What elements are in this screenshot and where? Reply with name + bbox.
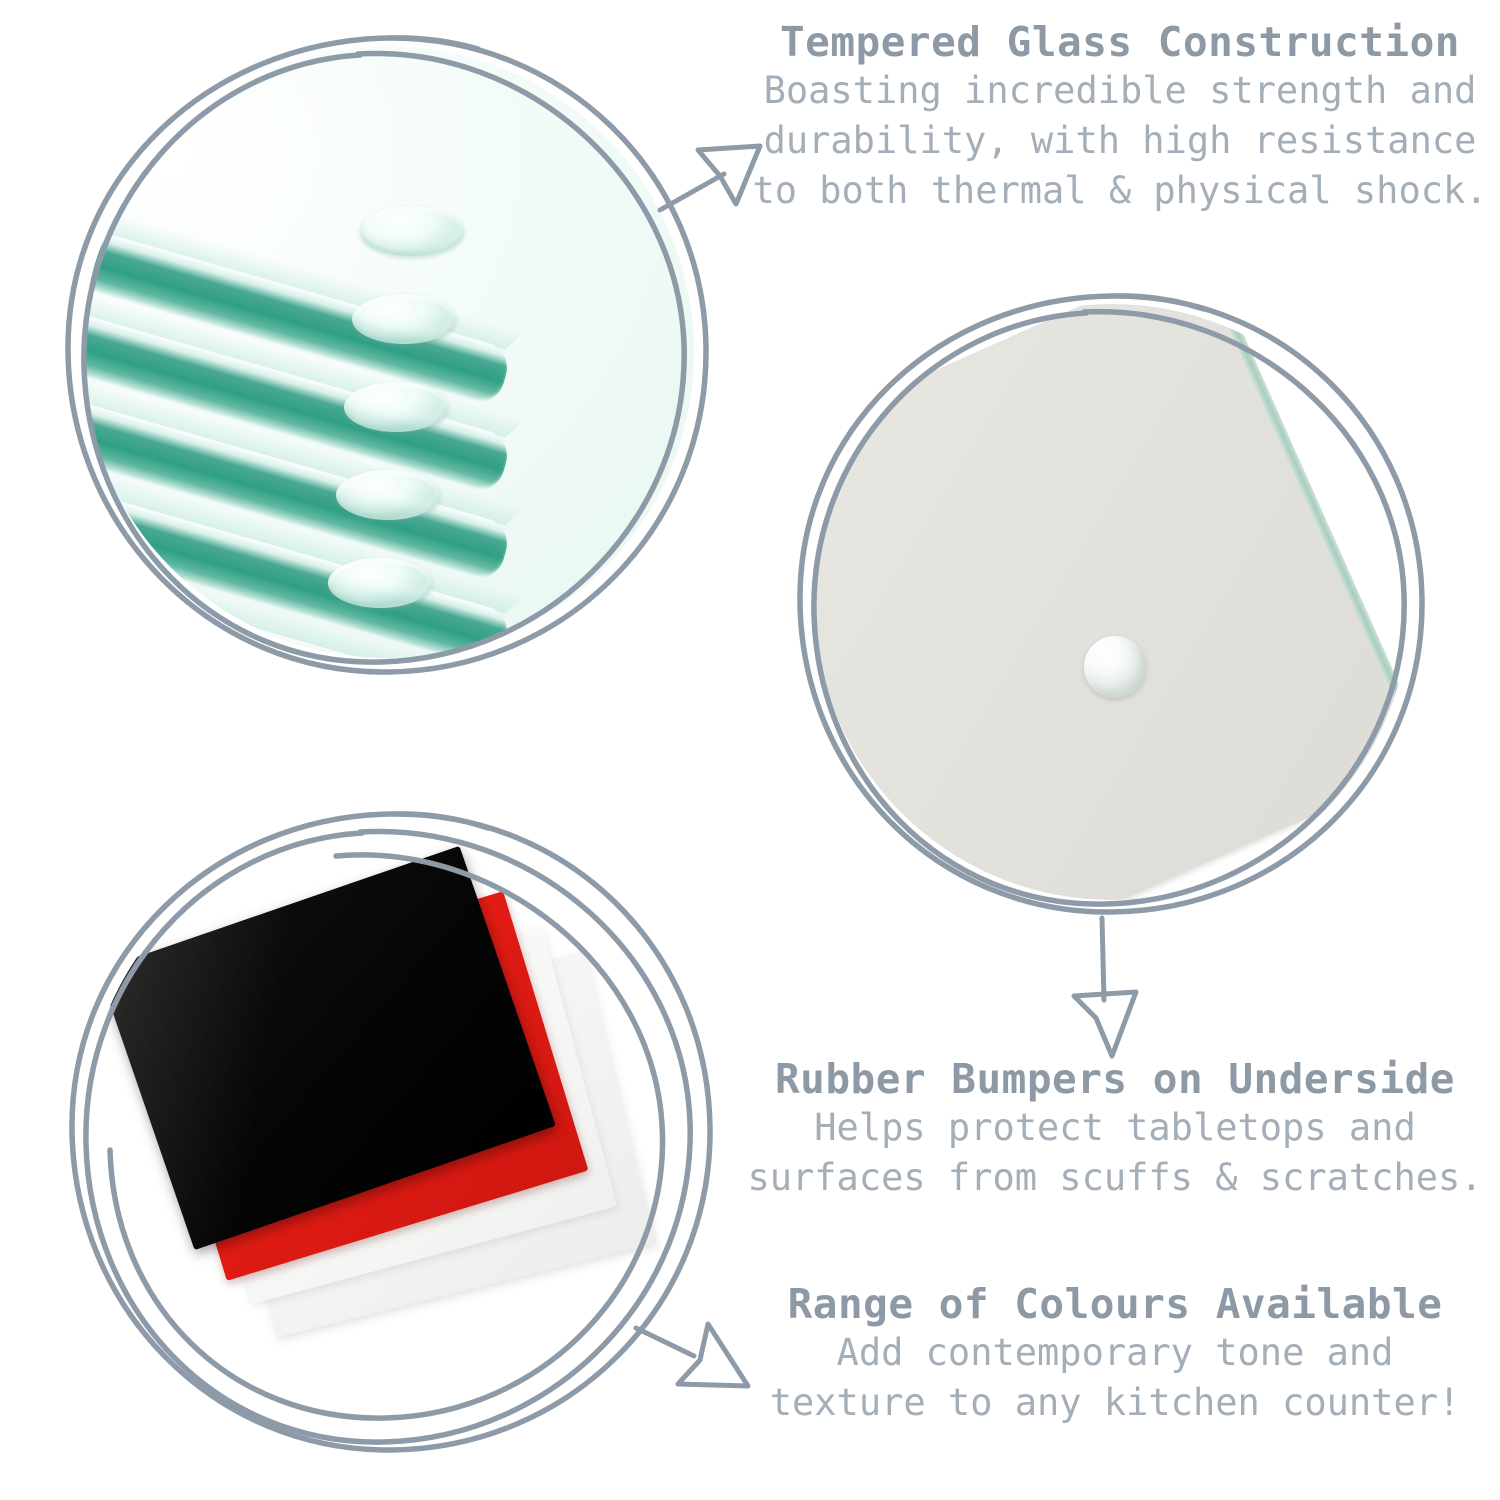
rubber-bumper-photo: [814, 304, 1410, 900]
feature-body-line: Helps protect tabletops and: [730, 1103, 1500, 1153]
coaster-underside: [814, 304, 1410, 900]
feature-heading: Tempered Glass Construction: [740, 18, 1500, 66]
feature-body-line: durability, with high resistance: [740, 116, 1500, 166]
feature-body-line: to both thermal & physical shock.: [740, 166, 1500, 216]
feature-image-range-of-colours: [60, 798, 724, 1462]
feature-text-rubber-bumpers: Rubber Bumpers on Underside Helps protec…: [730, 1055, 1500, 1203]
infographic-canvas: Tempered Glass Construction Boasting inc…: [0, 0, 1500, 1500]
glass-bumper-dot: [328, 558, 432, 608]
rubber-bumper-dot: [1084, 636, 1146, 698]
feature-heading: Range of Colours Available: [730, 1280, 1500, 1328]
arrow-down-icon: [1020, 900, 1220, 1080]
tempered-glass-photo: [82, 46, 694, 658]
feature-text-tempered-glass: Tempered Glass Construction Boasting inc…: [740, 18, 1500, 215]
feature-text-range-of-colours: Range of Colours Available Add contempor…: [730, 1280, 1500, 1428]
glass-bumper-dot: [336, 470, 440, 520]
feature-body-line: Boasting incredible strength and: [740, 66, 1500, 116]
feature-image-rubber-bumpers: [792, 282, 1432, 922]
feature-image-tempered-glass: [58, 22, 718, 682]
glass-stack-scene: [82, 46, 694, 658]
feature-body-line: texture to any kitchen counter!: [730, 1378, 1500, 1428]
feature-body-line: Add contemporary tone and: [730, 1328, 1500, 1378]
feature-heading: Rubber Bumpers on Underside: [730, 1055, 1500, 1103]
glass-bumper-dot: [352, 294, 456, 344]
colour-range-photo: [84, 822, 700, 1438]
glass-bumper-dot: [360, 206, 464, 256]
glass-bumper-dot: [344, 382, 448, 432]
feature-body-line: surfaces from scuffs & scratches.: [730, 1153, 1500, 1203]
